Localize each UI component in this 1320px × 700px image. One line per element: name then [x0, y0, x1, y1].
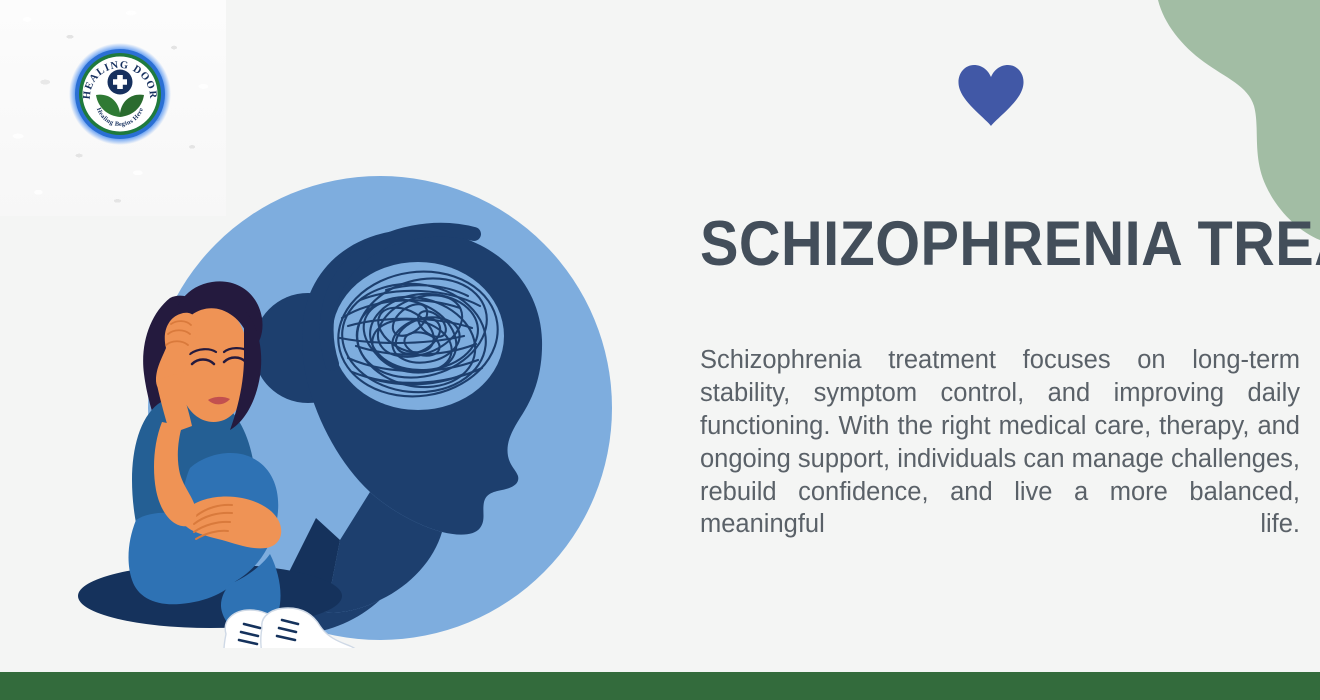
- page-title: SCHIZOPHRENIA TREATMENT: [700, 214, 1262, 274]
- brand-logo[interactable]: HEALING DOOR Healing Begins Here: [68, 42, 172, 146]
- bottom-accent-bar: [0, 672, 1320, 700]
- poster-canvas: HEALING DOOR Healing Begins Here: [0, 0, 1320, 700]
- hero-illustration: [40, 168, 680, 648]
- text-column: SCHIZOPHRENIA TREATMENT Schizophrenia tr…: [700, 214, 1314, 274]
- body-paragraph: Schizophrenia treatment focuses on long-…: [700, 344, 1300, 574]
- green-blob-shape: [1120, 0, 1320, 240]
- heart-icon: [955, 62, 1027, 128]
